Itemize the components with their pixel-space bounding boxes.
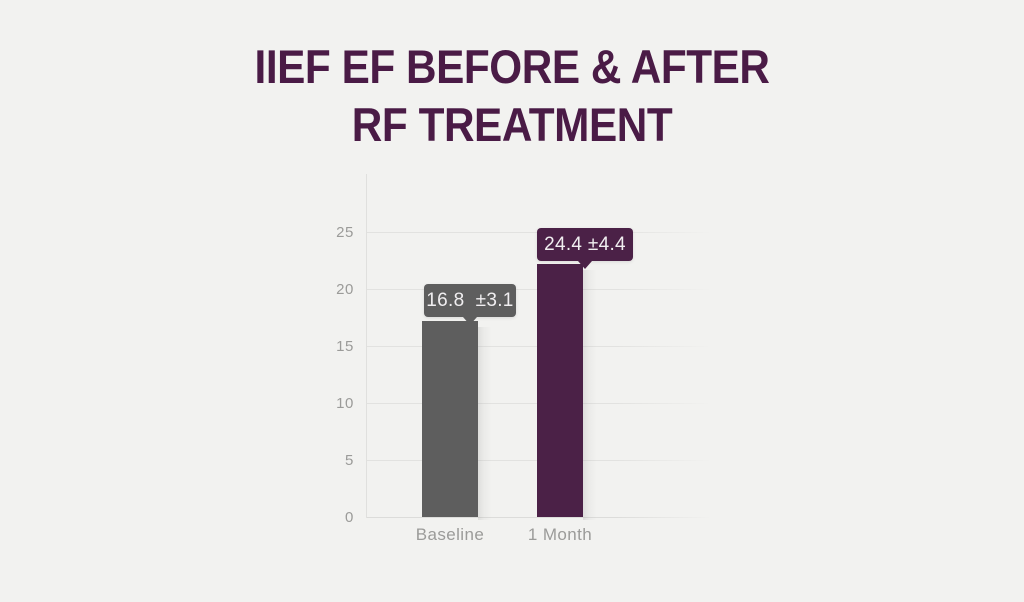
y-axis-line [366,174,367,518]
data-label-one-month-text: 24.4 ±4.4 [544,234,626,256]
y-tick-25: 25 [314,224,354,241]
data-label-baseline: 16.8 ±3.1 [424,284,516,317]
y-tick-15: 15 [314,338,354,355]
data-label-one-month: 24.4 ±4.4 [537,228,633,261]
gridline-0 [366,517,712,518]
tooltip-arrow-icon [578,261,592,269]
y-tick-10: 10 [314,395,354,412]
data-label-baseline-text: 16.8 ±3.1 [426,290,513,312]
x-tick-one-month: 1 Month [480,525,640,545]
bar-chart: 25 20 15 10 5 0 Baseline 1 Month 16.8 ±3… [0,0,1024,602]
y-axis-ticks: 25 20 15 10 5 0 [304,174,354,517]
y-tick-20: 20 [314,281,354,298]
bar-baseline[interactable] [422,321,478,517]
y-tick-0: 0 [314,509,354,526]
plot-area [366,174,712,517]
y-tick-5: 5 [314,452,354,469]
bar-one-month[interactable] [537,264,583,517]
tooltip-arrow-icon [463,317,477,325]
